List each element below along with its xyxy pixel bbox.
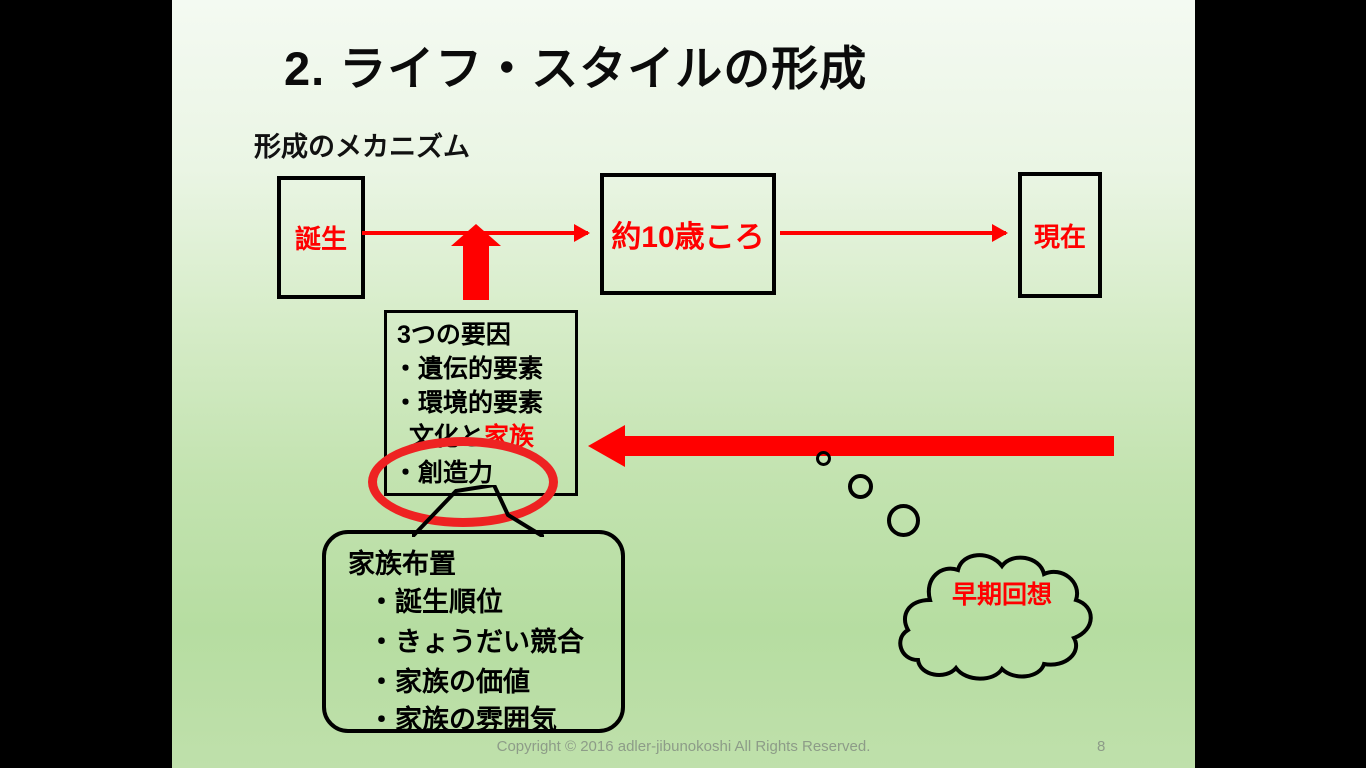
callout-item-birth-order: ・誕生順位 — [368, 580, 503, 619]
arrow-up-icon-factors — [463, 245, 489, 300]
letterbox-left — [0, 0, 172, 768]
callout-item-family-values: ・家族の価値 — [368, 660, 530, 699]
section-subtitle: 形成のメカニズム — [254, 125, 470, 164]
slide-stage: 2. ライフ・スタイルの形成 形成のメカニズム 誕生 約10歳ころ 現在 3つの… — [0, 0, 1366, 768]
timeline-box-age10[interactable]: 約10歳ころ — [600, 173, 776, 295]
timeline-box-birth[interactable]: 誕生 — [277, 176, 365, 299]
factors-item-genetic: ・遺伝的要素 — [393, 349, 543, 385]
page-number: 8 — [1097, 738, 1105, 755]
factors-item-environment: ・環境的要素 — [393, 383, 543, 419]
footer-copyright: Copyright © 2016 adler-jibunokoshi All R… — [172, 738, 1195, 755]
thought-bubble-large-icon — [887, 504, 920, 537]
callout-item-family-atmosphere: ・家族の雰囲気 — [368, 698, 557, 737]
page-title: 2. ライフ・スタイルの形成 — [284, 30, 867, 99]
arrow-right-icon-age10-to-now — [780, 231, 1006, 235]
callout-title: 家族布置 — [348, 542, 456, 581]
timeline-box-age10-label: 約10歳ころ — [611, 212, 764, 256]
thought-cloud-label: 早期回想 — [932, 575, 1072, 611]
thought-bubble-small-icon — [816, 451, 831, 466]
timeline-box-now-label: 現在 — [1034, 217, 1086, 254]
slide-canvas: 2. ライフ・スタイルの形成 形成のメカニズム 誕生 約10歳ころ 現在 3つの… — [172, 0, 1195, 768]
arrow-left-icon-recollection — [624, 436, 1114, 456]
callout-item-sibling-rivalry: ・きょうだい競合 — [368, 620, 584, 659]
callout-family-constellation[interactable]: 家族布置 ・誕生順位 ・きょうだい競合 ・家族の価値 ・家族の雰囲気 — [322, 530, 625, 733]
letterbox-right — [1195, 0, 1366, 768]
factors-box-title: 3つの要因 — [397, 315, 511, 351]
timeline-box-birth-label: 誕生 — [295, 219, 347, 256]
thought-bubble-medium-icon — [848, 474, 873, 499]
timeline-box-now[interactable]: 現在 — [1018, 172, 1102, 298]
